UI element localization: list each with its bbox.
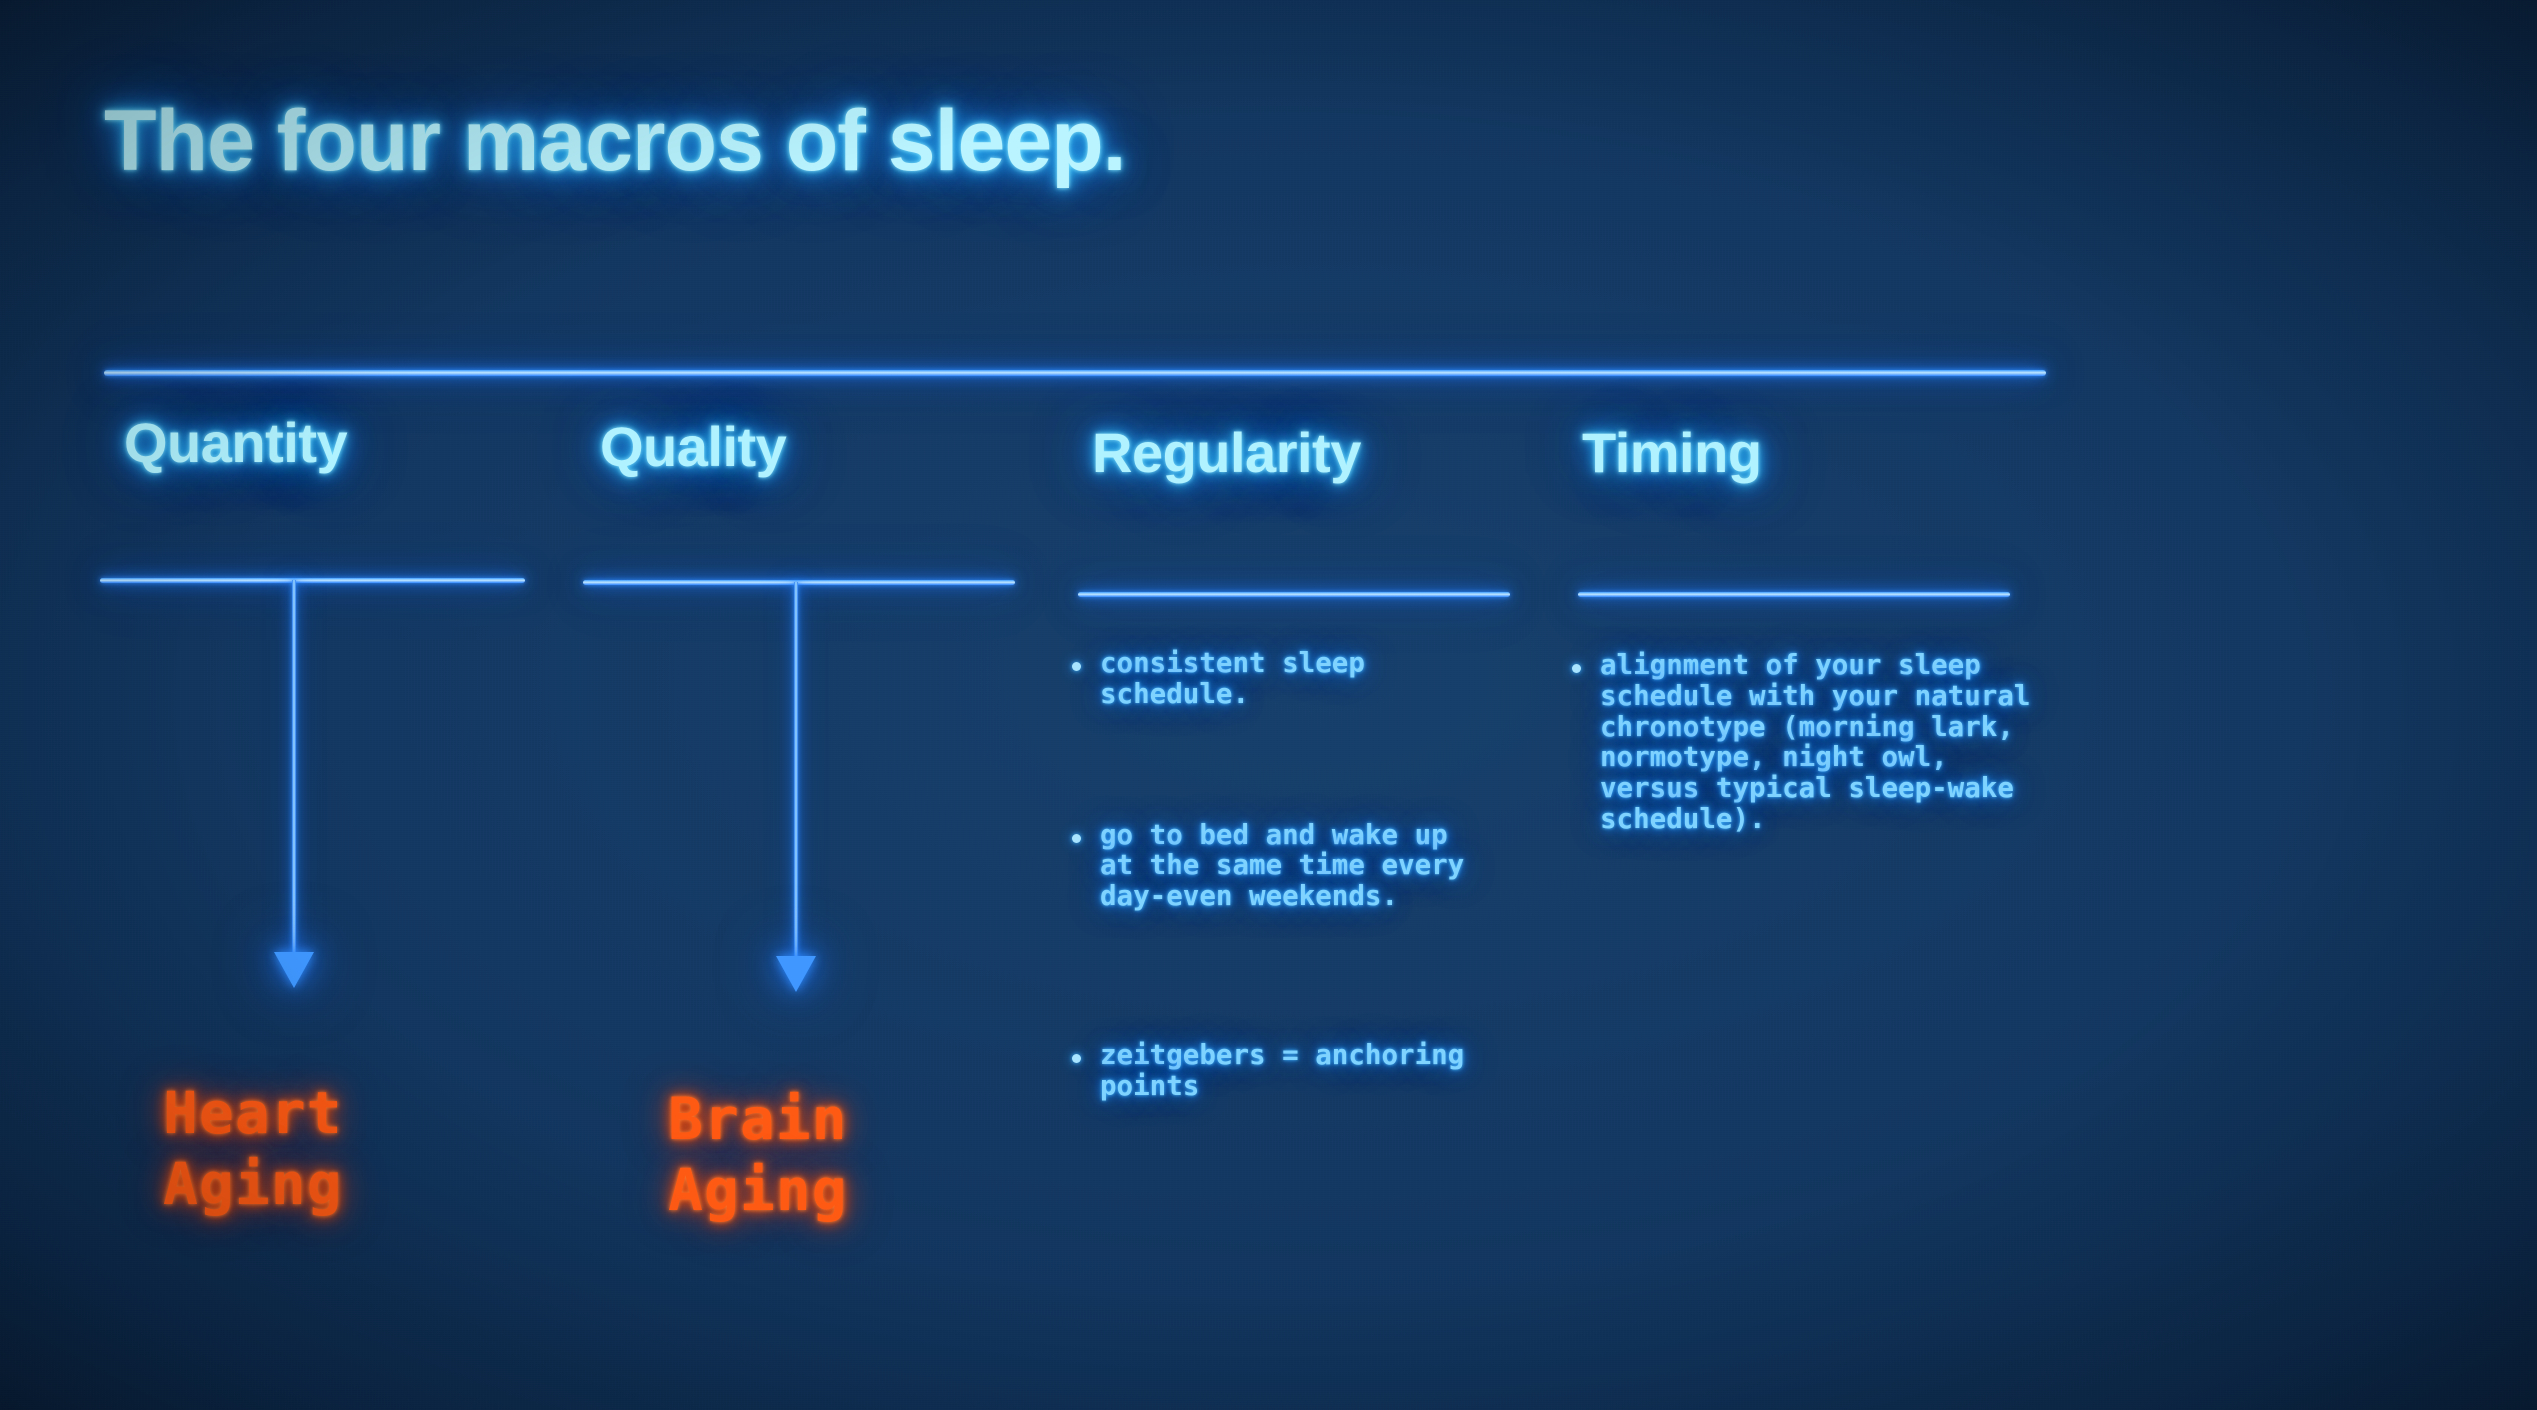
outcome-quality: Brain Aging: [668, 1084, 848, 1226]
column-heading-regularity: Regularity: [1092, 420, 1361, 485]
bullet-dot-icon: [1072, 834, 1081, 843]
page-title: The four macros of sleep.: [104, 92, 1126, 191]
outcome-quantity: Heart Aging: [163, 1078, 343, 1220]
column-heading-quality: Quality: [600, 414, 786, 479]
list-item: go to bed and wake up at the same time e…: [1070, 820, 1540, 912]
list-item: zeitgebers = anchoring points: [1070, 1040, 1540, 1102]
list-item: consistent sleep schedule.: [1070, 648, 1540, 710]
column-rule-quality: [583, 580, 1015, 585]
column-heading-timing: Timing: [1582, 420, 1762, 485]
arrow-head-quality: [776, 956, 816, 992]
arrow-head-quantity: [274, 952, 314, 988]
slide: The four macros of sleep. Quantity Heart…: [0, 0, 2537, 1410]
bullet-dot-icon: [1072, 662, 1081, 671]
column-rule-timing: [1578, 592, 2010, 597]
arrow-stem-quality: [794, 582, 798, 962]
bullet-dot-icon: [1572, 664, 1581, 673]
bullet-list-timing: alignment of your sleep schedule with yo…: [1570, 650, 2110, 835]
column-rule-quantity: [100, 578, 525, 583]
column-rule-regularity: [1078, 592, 1510, 597]
column-heading-quantity: Quantity: [124, 410, 347, 475]
bullet-dot-icon: [1072, 1054, 1081, 1063]
title-divider-rule: [104, 370, 2046, 376]
list-item: alignment of your sleep schedule with yo…: [1570, 650, 2110, 835]
bullet-list-regularity: consistent sleep schedule. go to bed and…: [1070, 648, 1540, 1102]
arrow-stem-quantity: [292, 580, 296, 958]
